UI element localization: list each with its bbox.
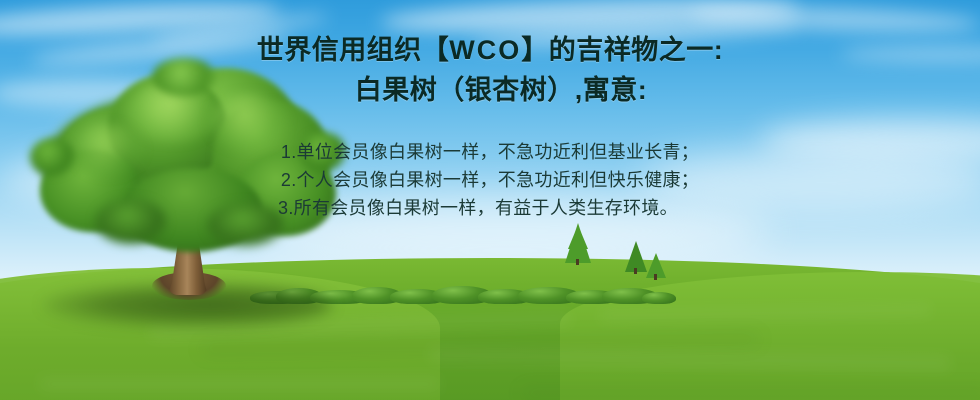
- wco-mascot-banner: 世界信用组织【WCO】的吉祥物之一: 白果树（银杏树）,寓意: 1.单位会员像白…: [0, 0, 980, 400]
- title-bracket-open: 【: [422, 35, 450, 65]
- banner-title-block: 世界信用组织【WCO】的吉祥物之一: 白果树（银杏树）,寓意:: [0, 30, 980, 110]
- banner-body-line-3: 3.所有会员像白果树一样，有益于人类生存环境。: [0, 194, 980, 222]
- banner-title-line-1: 世界信用组织【WCO】的吉祥物之一:: [0, 30, 980, 70]
- banner-title-line-2: 白果树（银杏树）,寓意:: [0, 70, 980, 110]
- title-prefix: 世界信用组织: [257, 35, 422, 65]
- banner-body-line-2: 2.个人会员像白果树一样，不急功近利但快乐健康；: [0, 166, 980, 194]
- title-suffix: 的吉祥物之一:: [549, 35, 724, 65]
- title-bracket-close: 】: [521, 35, 549, 65]
- grass-mow-band: [40, 378, 440, 390]
- grass-shade-band: [520, 386, 980, 400]
- banner-body-block: 1.单位会员像白果树一样，不急功近利但基业长青； 2.个人会员像白果树一样，不急…: [0, 138, 980, 222]
- banner-body-line-1: 1.单位会员像白果树一样，不急功近利但基业长青；: [0, 138, 980, 166]
- title-acronym: WCO: [449, 35, 521, 65]
